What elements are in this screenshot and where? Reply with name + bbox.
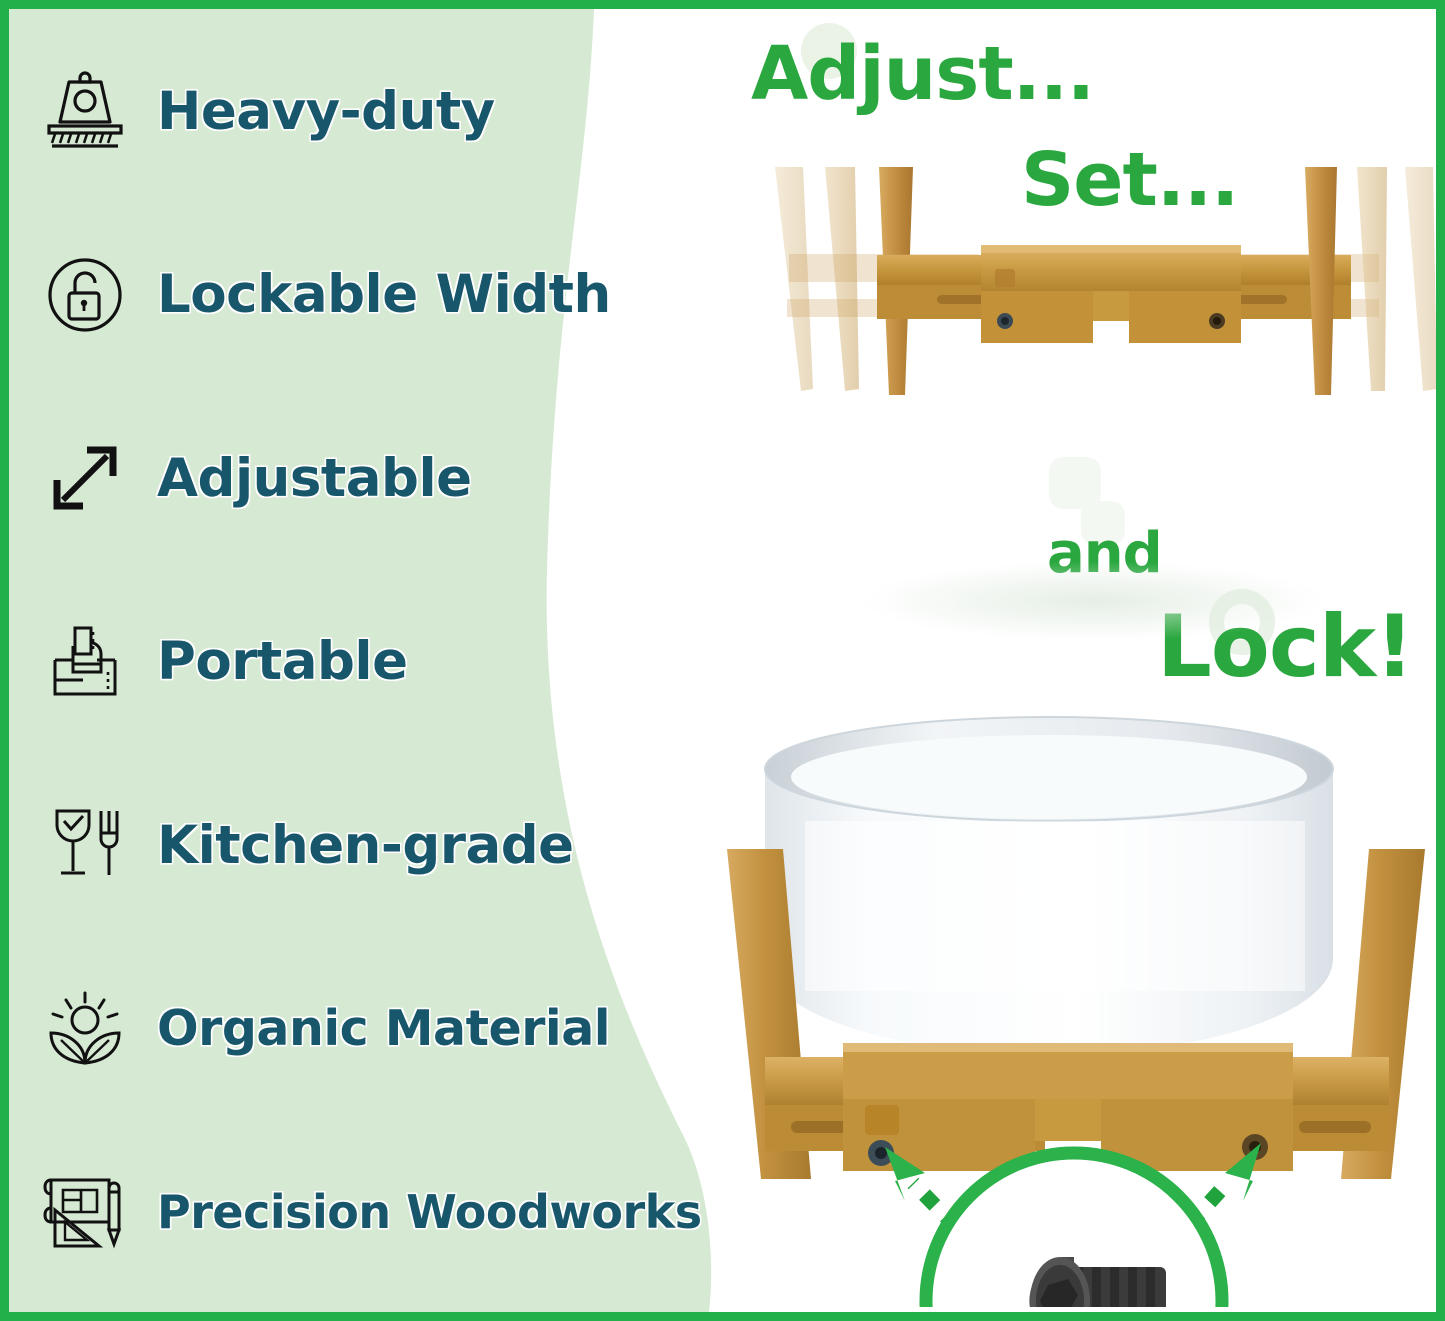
feature-label: Kitchen-grade	[157, 815, 574, 876]
adjustable-stand-image	[709, 149, 1445, 579]
product-feature-poster: Heavy-duty Lockable Width	[0, 0, 1445, 1321]
feature-label: Adjustable	[157, 448, 472, 509]
open-padlock-icon	[37, 247, 133, 343]
features-panel: Heavy-duty Lockable Width	[9, 9, 769, 1312]
hand-carry-box-icon	[37, 614, 133, 710]
bowl-on-stand-image	[709, 681, 1445, 1307]
feature-item-lockable-width: Lockable Width	[9, 219, 709, 371]
glass-fork-food-safe-icon	[37, 797, 133, 893]
feature-label: Heavy-duty	[157, 81, 495, 142]
feature-label: Organic Material	[157, 1000, 610, 1057]
feature-list: Heavy-duty Lockable Width	[9, 9, 709, 1312]
ceramic-bowl	[765, 717, 1333, 1055]
product-showcase: Adjust... Set... and Lock!	[709, 9, 1445, 1312]
blueprint-tools-icon	[37, 1164, 133, 1260]
ghost-leg	[1405, 167, 1437, 391]
center-locking-block	[981, 245, 1241, 343]
headline-adjust: Adjust...	[751, 31, 1094, 117]
feature-label: Precision Woodworks	[157, 1185, 702, 1239]
feature-label: Portable	[157, 631, 408, 692]
sun-leaves-icon	[37, 981, 133, 1077]
feature-item-adjustable: Adjustable	[9, 402, 709, 554]
feature-item-organic-material: Organic Material	[9, 953, 709, 1105]
feature-item-kitchen-grade: Kitchen-grade	[9, 769, 709, 921]
feature-item-portable: Portable	[9, 586, 709, 738]
weight-scale-icon	[37, 63, 133, 159]
diagonal-arrows-icon	[37, 430, 133, 526]
feature-item-heavy-duty: Heavy-duty	[9, 35, 709, 187]
drop-shadow	[859, 561, 1329, 641]
feature-item-precision-woodworks: Precision Woodworks	[9, 1136, 709, 1288]
feature-label: Lockable Width	[157, 264, 611, 325]
